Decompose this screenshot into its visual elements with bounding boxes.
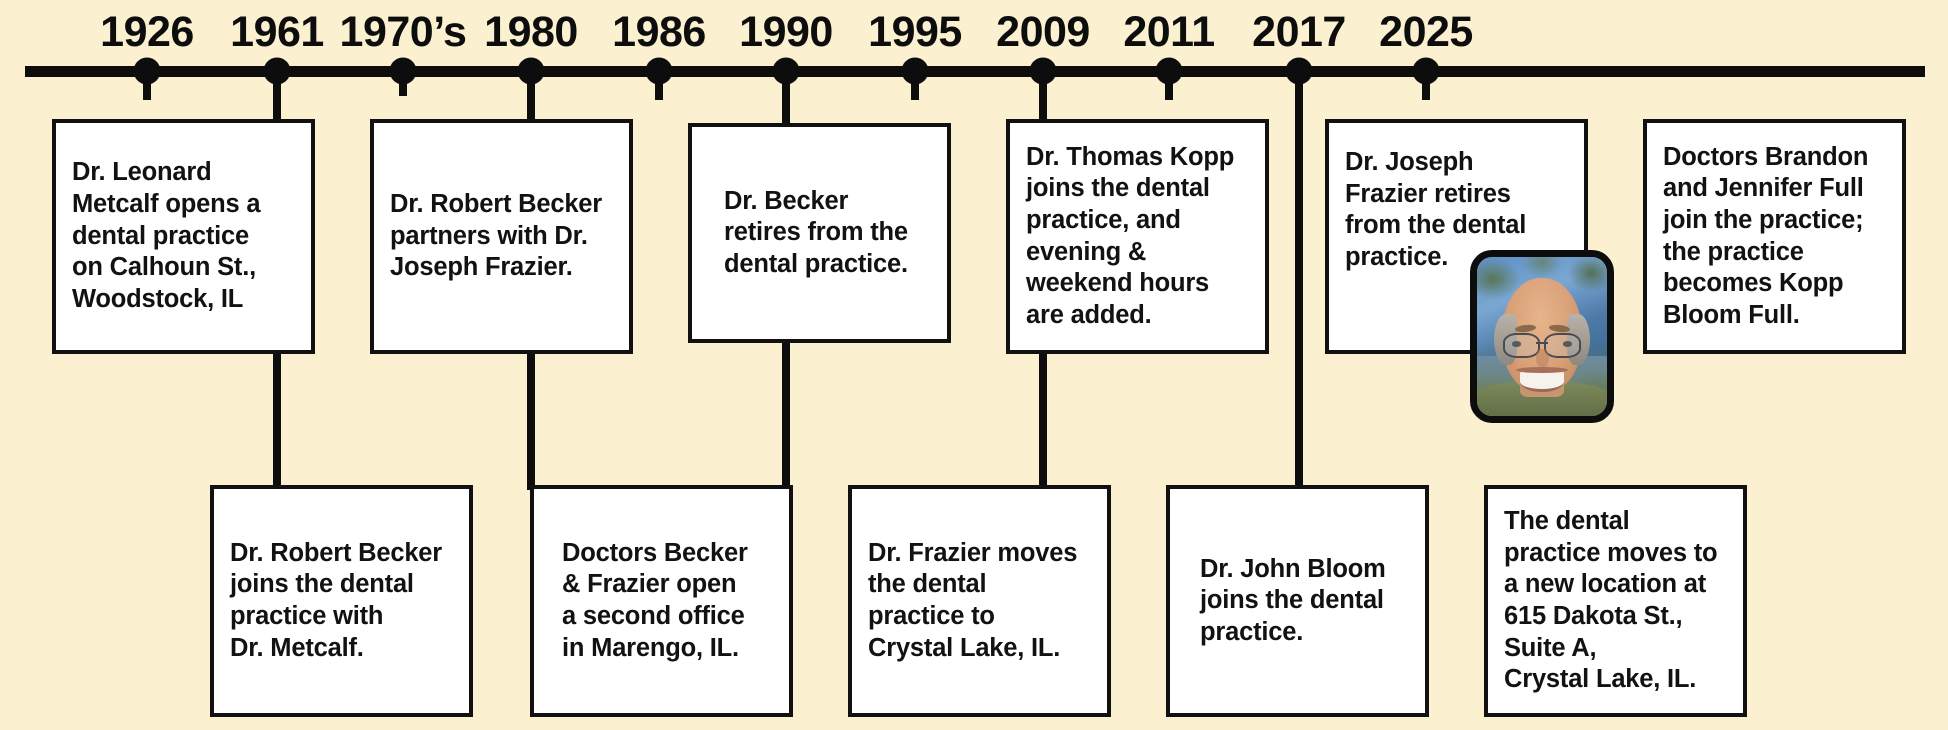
year-label-2025: 2025	[1379, 8, 1473, 57]
event-box-2009[interactable]: Dr. John Bloom joins the dental practice…	[1166, 485, 1429, 717]
portrait-glasses-lens-left	[1503, 333, 1540, 358]
event-text-2017: The dental practice moves to a new locat…	[1504, 506, 1717, 696]
event-text-1986: Dr. Becker retires from the dental pract…	[708, 186, 931, 281]
event-box-2017[interactable]: The dental practice moves to a new locat…	[1484, 485, 1747, 717]
event-box-1986[interactable]: Dr. Becker retires from the dental pract…	[688, 123, 951, 343]
year-label-1961: 1961	[230, 8, 324, 57]
year-label-1970s: 1970’s	[340, 8, 467, 57]
event-text-1995: Dr. Thomas Kopp joins the dental practic…	[1026, 142, 1234, 332]
timeline-dot-2017[interactable]	[1286, 58, 1313, 85]
portrait-glasses-lens-right	[1544, 333, 1581, 358]
portrait-teeth	[1520, 371, 1564, 391]
year-label-1995: 1995	[868, 8, 962, 57]
timeline-dot-2025[interactable]	[1413, 58, 1440, 85]
year-label-2017: 2017	[1252, 8, 1346, 57]
event-text-1961: Dr. Robert Becker joins the dental pract…	[230, 538, 442, 664]
event-text-2025: Doctors Brandon and Jennifer Full join t…	[1663, 142, 1868, 332]
year-label-2009: 2009	[996, 8, 1090, 57]
event-text-1980: Doctors Becker & Frazier open a second o…	[550, 538, 748, 664]
timeline-infographic: 1926 1961 1970’s 1980 1986 1990 1995 200…	[0, 0, 1948, 730]
timeline-dot-2011[interactable]	[1156, 58, 1183, 85]
timeline-dot-1980[interactable]	[518, 58, 545, 85]
portrait-glasses-bridge	[1536, 342, 1548, 345]
portrait-nose	[1536, 349, 1549, 368]
event-box-1926[interactable]: Dr. Leonard Metcalf opens a dental pract…	[52, 119, 315, 354]
event-box-1995[interactable]: Dr. Thomas Kopp joins the dental practic…	[1006, 119, 1269, 354]
event-text-1970s: Dr. Robert Becker partners with Dr. Jose…	[390, 189, 602, 284]
event-box-1980[interactable]: Doctors Becker & Frazier open a second o…	[530, 485, 793, 717]
timeline-dot-1986[interactable]	[646, 58, 673, 85]
year-label-2011: 2011	[1123, 8, 1214, 57]
event-box-1970s[interactable]: Dr. Robert Becker partners with Dr. Jose…	[370, 119, 633, 354]
timeline-axis-bar	[25, 66, 1925, 77]
timeline-dot-1926[interactable]	[134, 58, 161, 85]
timeline-dot-1961[interactable]	[264, 58, 291, 85]
timeline-dot-1995[interactable]	[902, 58, 929, 85]
portrait-photo-dr-frazier	[1470, 250, 1614, 423]
year-label-1986: 1986	[612, 8, 706, 57]
portrait-image	[1477, 257, 1607, 416]
timeline-dot-1990[interactable]	[773, 58, 800, 85]
year-label-1980: 1980	[484, 8, 578, 57]
event-box-1961[interactable]: Dr. Robert Becker joins the dental pract…	[210, 485, 473, 717]
timeline-dot-1970s[interactable]	[390, 58, 417, 85]
event-box-1990[interactable]: Dr. Frazier moves the dental practice to…	[848, 485, 1111, 717]
timeline-dot-2009[interactable]	[1030, 58, 1057, 85]
event-box-2025[interactable]: Doctors Brandon and Jennifer Full join t…	[1643, 119, 1906, 354]
connector-2017	[1295, 66, 1303, 490]
event-text-1990: Dr. Frazier moves the dental practice to…	[868, 538, 1077, 664]
year-label-1990: 1990	[739, 8, 833, 57]
event-text-2009: Dr. John Bloom joins the dental practice…	[1186, 554, 1386, 649]
year-label-1926: 1926	[100, 8, 194, 57]
event-text-1926: Dr. Leonard Metcalf opens a dental pract…	[72, 157, 260, 315]
portrait-upper-lip	[1516, 367, 1568, 373]
